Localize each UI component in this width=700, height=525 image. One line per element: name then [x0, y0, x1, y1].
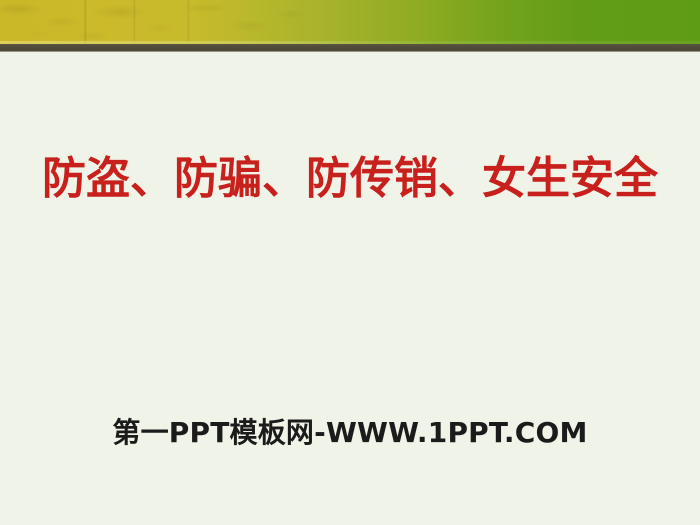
banner-seam-lines: [0, 0, 300, 44]
banner-separator-stripe: [0, 44, 700, 52]
slide-content-area: 防盗、防骗、防传销、女生安全 第一PPT模板网-WWW.1PPT.COM: [0, 52, 700, 525]
decorative-top-banner: [0, 0, 700, 44]
banner-paper-texture: [0, 0, 320, 44]
presentation-slide: 防盗、防骗、防传销、女生安全 第一PPT模板网-WWW.1PPT.COM: [0, 0, 700, 525]
slide-title: 防盗、防骗、防传销、女生安全: [0, 152, 700, 206]
site-watermark: 第一PPT模板网-WWW.1PPT.COM: [0, 415, 700, 451]
